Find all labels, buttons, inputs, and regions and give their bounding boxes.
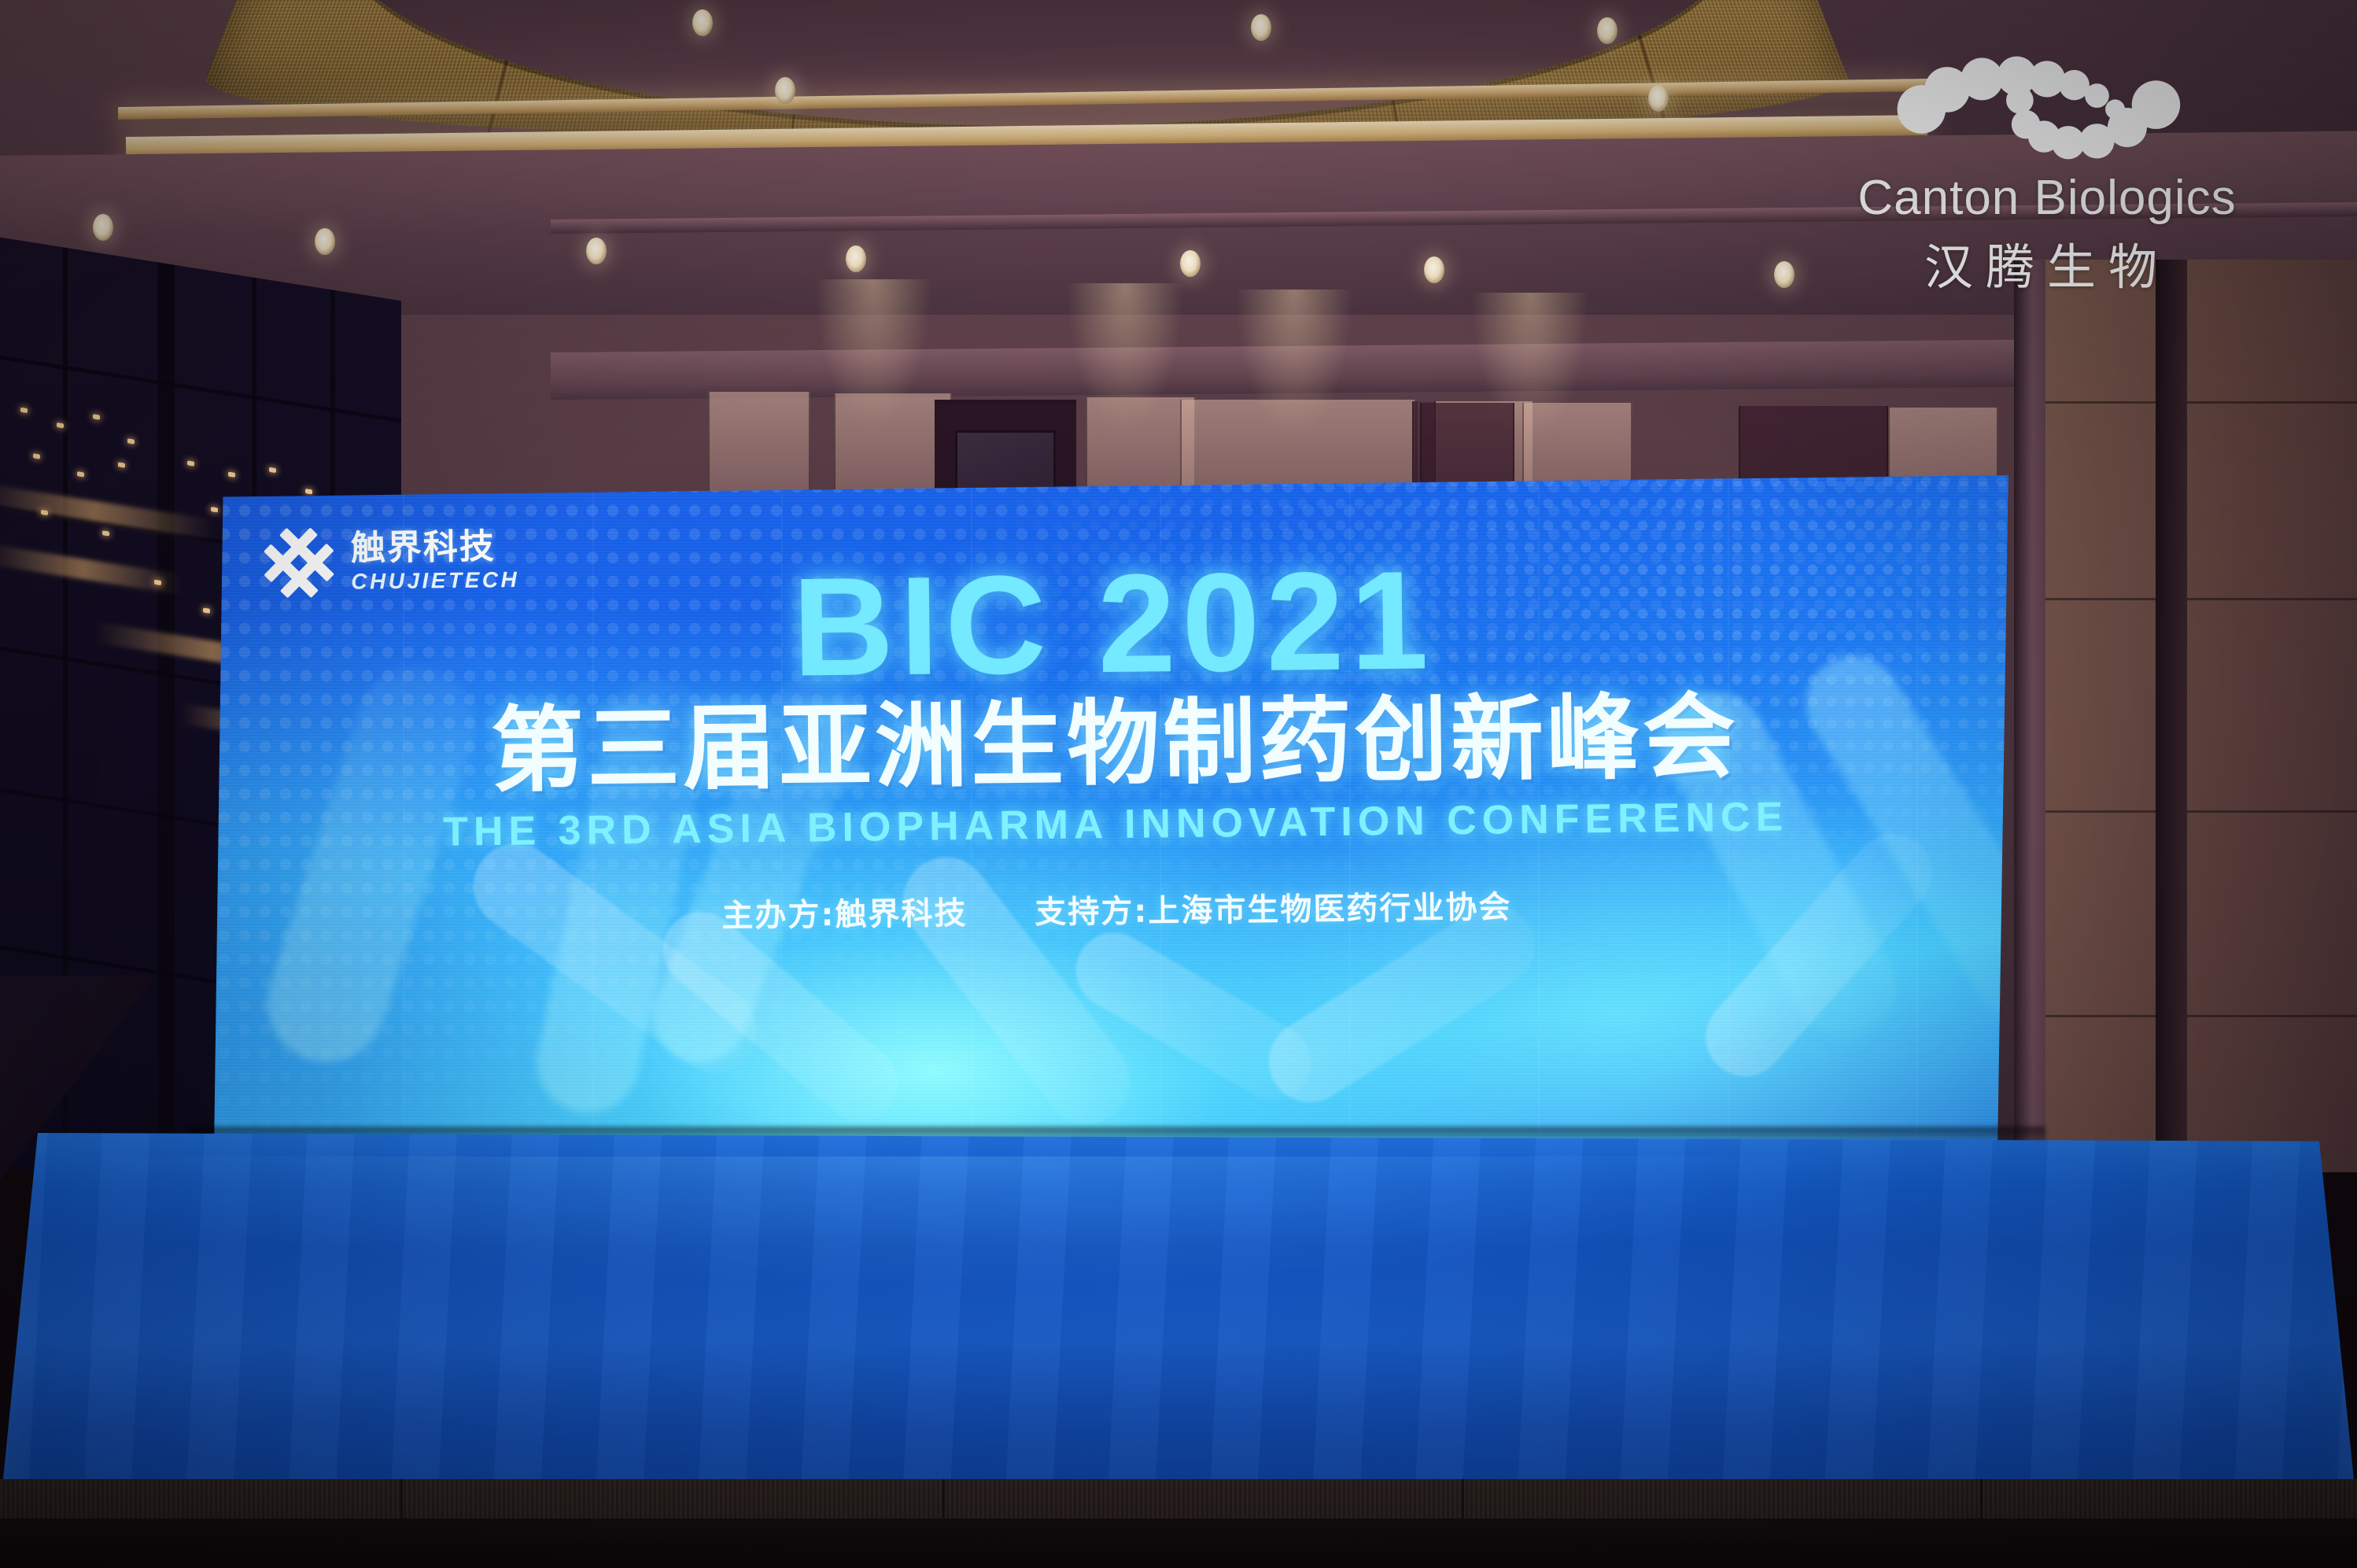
conference-title-block: BIC 2021 第三届亚洲生物制药创新峰会 THE 3RD ASIA BIOP… (214, 544, 2016, 942)
conference-acronym-title: BIC 2021 (214, 544, 2015, 704)
downlight-icon (692, 9, 713, 36)
conference-english-subtitle: THE 3RD ASIA BIOPHARMA INNOVATION CONFER… (215, 791, 2016, 858)
floor (0, 1518, 2357, 1568)
right-column (2156, 260, 2187, 1172)
downlight-icon (1648, 85, 1669, 112)
downlight-icon (846, 245, 866, 272)
right-wall (2045, 260, 2357, 1172)
stage-carpet (0, 1133, 2357, 1511)
downlight-icon (1774, 261, 1794, 288)
downlight-icon (1597, 17, 1617, 44)
led-screen[interactable]: 触界科技 CHUJIETECH BIC 2021 第三届亚洲生物制药创新峰会 T… (214, 475, 2016, 1152)
downlight-icon (1180, 250, 1201, 277)
conference-stage-photo: 触界科技 CHUJIETECH BIC 2021 第三届亚洲生物制药创新峰会 T… (0, 0, 2357, 1568)
downlight-icon (775, 77, 795, 104)
downlight-icon (1424, 256, 1444, 283)
supporter-label: 支持方:上海市生物医药行业协会 (1035, 889, 1511, 931)
downlight-icon (1251, 14, 1271, 41)
downlight-icon (315, 228, 335, 255)
downlight-icon (93, 214, 113, 241)
organizer-label: 主办方:触界科技 (721, 895, 968, 935)
downlight-icon (586, 238, 607, 264)
conference-chinese-title: 第三届亚洲生物制药创新峰会 (214, 685, 2016, 803)
sponsor-line: 主办方:触界科技 支持方:上海市生物医药行业协会 (216, 876, 2016, 942)
